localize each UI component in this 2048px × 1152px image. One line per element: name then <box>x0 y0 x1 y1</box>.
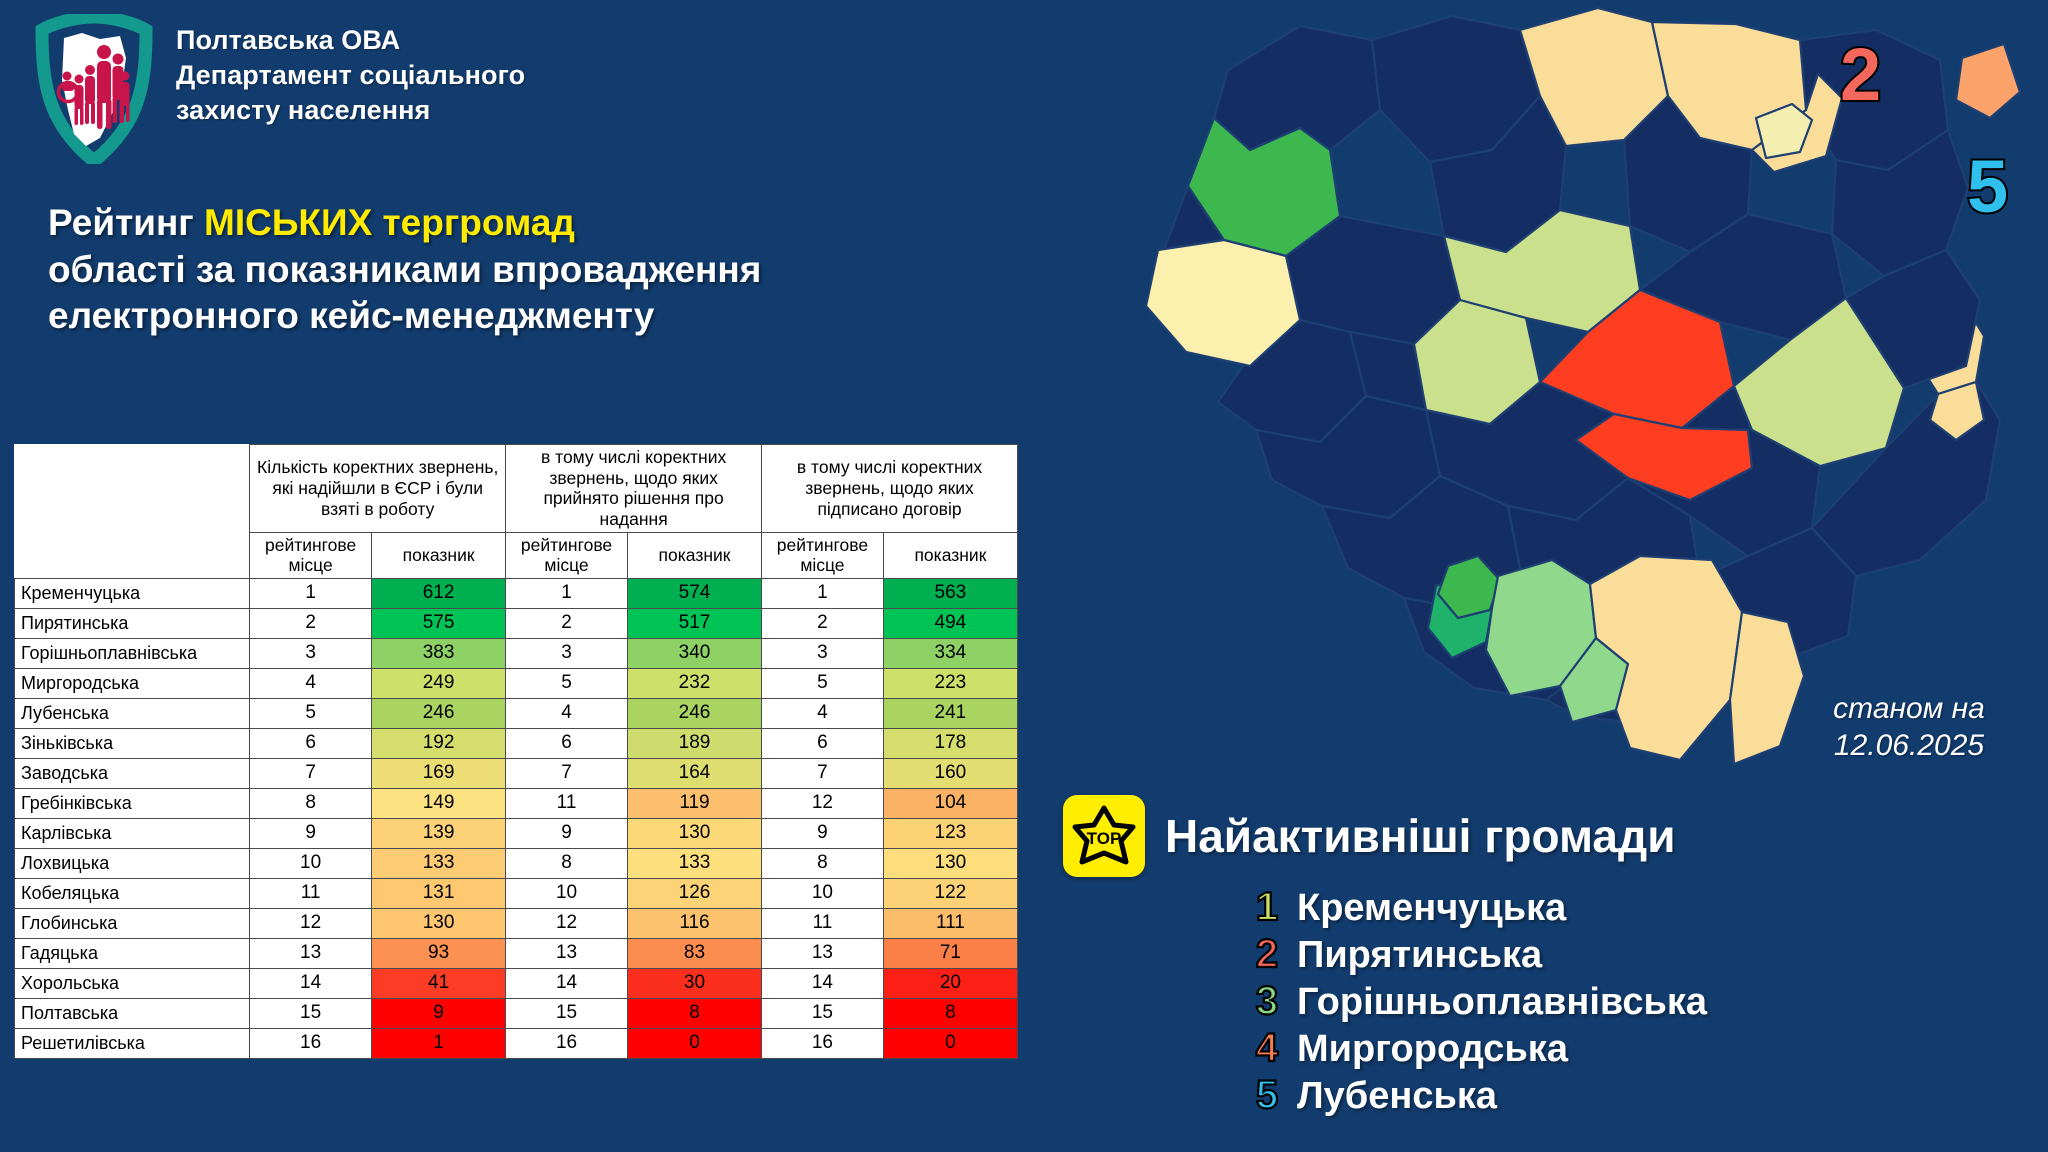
sub-header-value-2: показник <box>627 532 761 578</box>
top-community-name: Горішньоплавнівська <box>1297 981 1707 1024</box>
row-rank-3: 14 <box>762 968 884 998</box>
row-value-3: 178 <box>883 728 1017 758</box>
top-badge-text: TOP <box>1087 829 1122 848</box>
row-value-2: 8 <box>627 998 761 1028</box>
row-rank-1: 11 <box>250 878 372 908</box>
row-value-2: 130 <box>627 818 761 848</box>
row-value-2: 164 <box>627 758 761 788</box>
row-rank-2: 9 <box>506 818 628 848</box>
row-rank-2: 13 <box>506 938 628 968</box>
row-rank-1: 5 <box>250 698 372 728</box>
row-community-name: Гребінківська <box>15 788 250 818</box>
row-rank-1: 6 <box>250 728 372 758</box>
table-body: Кременчуцька161215741563Пирятинська25752… <box>15 578 1018 1058</box>
row-value-3: 111 <box>883 908 1017 938</box>
row-rank-3: 12 <box>762 788 884 818</box>
top-star-badge-icon: TOP <box>1063 795 1145 877</box>
row-value-2: 574 <box>627 578 761 608</box>
rating-table: Кількість коректних звернень, які надійш… <box>14 444 1018 1059</box>
row-value-3: 160 <box>883 758 1017 788</box>
row-rank-2: 14 <box>506 968 628 998</box>
top-communities-title: Найактивніші громади <box>1165 809 1675 863</box>
row-value-2: 119 <box>627 788 761 818</box>
row-community-name: Кременчуцька <box>15 578 250 608</box>
row-rank-2: 5 <box>506 668 628 698</box>
top-community-item: 5Лубенська <box>1253 1073 1707 1118</box>
row-rank-2: 10 <box>506 878 628 908</box>
row-rank-3: 16 <box>762 1028 884 1058</box>
row-rank-3: 3 <box>762 638 884 668</box>
top-community-item: 3Горішньоплавнівська <box>1253 979 1707 1024</box>
org-line-3: захисту населення <box>176 93 525 128</box>
row-value-3: 494 <box>883 608 1017 638</box>
row-rank-3: 7 <box>762 758 884 788</box>
row-rank-2: 2 <box>506 608 628 638</box>
row-rank-1: 15 <box>250 998 372 1028</box>
headline-highlight: МІСЬКИХ тергромад <box>204 202 575 243</box>
row-rank-3: 2 <box>762 608 884 638</box>
row-value-1: 9 <box>372 998 506 1028</box>
page-title: Рейтинг МІСЬКИХ тергромад області за пок… <box>48 200 868 340</box>
top-community-rank: 5 <box>1253 1073 1281 1118</box>
row-rank-3: 8 <box>762 848 884 878</box>
table-row: Хорольська144114301420 <box>15 968 1018 998</box>
row-value-1: 139 <box>372 818 506 848</box>
row-value-3: 563 <box>883 578 1017 608</box>
row-community-name: Лубенська <box>15 698 250 728</box>
row-rank-2: 15 <box>506 998 628 1028</box>
row-value-2: 126 <box>627 878 761 908</box>
top-community-rank: 1 <box>1253 885 1281 930</box>
row-rank-3: 13 <box>762 938 884 968</box>
as-of-date: станом на 12.06.2025 <box>1794 690 2024 764</box>
row-value-1: 169 <box>372 758 506 788</box>
row-rank-1: 8 <box>250 788 372 818</box>
top-community-item: 2Пирятинська <box>1253 932 1707 977</box>
headline-part-1: Рейтинг <box>48 202 204 243</box>
table-row: Зіньківська619261896178 <box>15 728 1018 758</box>
row-value-3: 130 <box>883 848 1017 878</box>
headline-part-2: області за показниками впровадження елек… <box>48 249 761 337</box>
row-value-3: 223 <box>883 668 1017 698</box>
row-rank-2: 16 <box>506 1028 628 1058</box>
org-title: Полтавська ОВА Департамент соціального з… <box>176 14 525 128</box>
row-value-3: 241 <box>883 698 1017 728</box>
row-rank-2: 1 <box>506 578 628 608</box>
sub-header-value-3: показник <box>883 532 1017 578</box>
table-row: Решетилівська161160160 <box>15 1028 1018 1058</box>
top-communities-list: 1Кременчуцька2Пирятинська3Горішньоплавні… <box>1253 885 1707 1120</box>
sub-header-rank-1: рейтингове місце <box>250 532 372 578</box>
table-head: Кількість коректних звернень, які надійш… <box>15 445 1018 579</box>
row-rank-1: 9 <box>250 818 372 848</box>
row-rank-2: 11 <box>506 788 628 818</box>
row-value-2: 30 <box>627 968 761 998</box>
map-marker-2: 2 <box>1840 38 1881 112</box>
row-rank-2: 3 <box>506 638 628 668</box>
table-row: Миргородська424952325223 <box>15 668 1018 698</box>
row-rank-1: 2 <box>250 608 372 638</box>
group-header-3: в тому числі коректних звернень, щодо як… <box>762 445 1018 533</box>
as-of-label: станом на <box>1794 690 2024 727</box>
row-community-name: Лохвицька <box>15 848 250 878</box>
row-value-3: 123 <box>883 818 1017 848</box>
top-community-name: Пирятинська <box>1297 934 1542 977</box>
star-icon: TOP <box>1071 804 1137 868</box>
row-value-3: 8 <box>883 998 1017 1028</box>
row-value-1: 41 <box>372 968 506 998</box>
table-row: Пирятинська257525172494 <box>15 608 1018 638</box>
group-header-1: Кількість коректних звернень, які надійш… <box>250 445 506 533</box>
row-community-name: Горішньоплавнівська <box>15 638 250 668</box>
row-value-1: 249 <box>372 668 506 698</box>
sub-header-value-1: показник <box>372 532 506 578</box>
table-row: Полтавська159158158 <box>15 998 1018 1028</box>
table-row: Кременчуцька161215741563 <box>15 578 1018 608</box>
row-value-2: 232 <box>627 668 761 698</box>
top-community-item: 4Миргородська <box>1253 1026 1707 1071</box>
table-row: Гадяцька139313831371 <box>15 938 1018 968</box>
table-row: Гребінківська81491111912104 <box>15 788 1018 818</box>
row-value-3: 20 <box>883 968 1017 998</box>
row-rank-1: 13 <box>250 938 372 968</box>
row-value-2: 116 <box>627 908 761 938</box>
table-row: Карлівська913991309123 <box>15 818 1018 848</box>
row-rank-2: 12 <box>506 908 628 938</box>
row-value-1: 575 <box>372 608 506 638</box>
row-rank-3: 5 <box>762 668 884 698</box>
row-rank-1: 10 <box>250 848 372 878</box>
top-community-rank: 2 <box>1253 932 1281 977</box>
row-rank-2: 4 <box>506 698 628 728</box>
row-community-name: Зіньківська <box>15 728 250 758</box>
row-value-2: 83 <box>627 938 761 968</box>
top-community-rank: 4 <box>1253 1026 1281 1071</box>
org-header: Полтавська ОВА Департамент соціального з… <box>34 14 525 164</box>
row-rank-1: 3 <box>250 638 372 668</box>
table-row: Горішньоплавнівська338333403334 <box>15 638 1018 668</box>
row-community-name: Пирятинська <box>15 608 250 638</box>
table-row: Кобеляцька111311012610122 <box>15 878 1018 908</box>
row-value-1: 612 <box>372 578 506 608</box>
row-rank-3: 15 <box>762 998 884 1028</box>
row-value-2: 517 <box>627 608 761 638</box>
poltava-social-protection-shield-logo <box>34 14 154 164</box>
row-rank-3: 9 <box>762 818 884 848</box>
sub-header-rank-3: рейтингове місце <box>762 532 884 578</box>
row-rank-1: 4 <box>250 668 372 698</box>
row-community-name: Кобеляцька <box>15 878 250 908</box>
row-rank-1: 12 <box>250 908 372 938</box>
row-value-3: 334 <box>883 638 1017 668</box>
table-row: Лубенська524642464241 <box>15 698 1018 728</box>
row-value-1: 383 <box>372 638 506 668</box>
row-community-name: Глобинська <box>15 908 250 938</box>
top-community-name: Миргородська <box>1297 1028 1568 1071</box>
row-rank-2: 7 <box>506 758 628 788</box>
row-rank-3: 1 <box>762 578 884 608</box>
row-rank-3: 10 <box>762 878 884 908</box>
map-marker-5: 5 <box>1967 150 2008 224</box>
table-row: Заводська716971647160 <box>15 758 1018 788</box>
row-rank-1: 16 <box>250 1028 372 1058</box>
org-line-1: Полтавська ОВА <box>176 23 525 58</box>
row-value-3: 0 <box>883 1028 1017 1058</box>
row-community-name: Гадяцька <box>15 938 250 968</box>
row-value-1: 192 <box>372 728 506 758</box>
row-rank-2: 8 <box>506 848 628 878</box>
table-row: Лохвицька1013381338130 <box>15 848 1018 878</box>
row-community-name: Хорольська <box>15 968 250 998</box>
row-value-2: 246 <box>627 698 761 728</box>
row-rank-1: 7 <box>250 758 372 788</box>
row-rank-3: 4 <box>762 698 884 728</box>
row-community-name: Миргородська <box>15 668 250 698</box>
row-rank-1: 14 <box>250 968 372 998</box>
table-group-header-row: Кількість коректних звернень, які надійш… <box>15 445 1018 533</box>
row-community-name: Полтавська <box>15 998 250 1028</box>
row-value-1: 131 <box>372 878 506 908</box>
sub-header-rank-2: рейтингове місце <box>506 532 628 578</box>
as-of-value: 12.06.2025 <box>1794 727 2024 764</box>
table-corner-cell <box>15 445 250 579</box>
row-value-2: 340 <box>627 638 761 668</box>
row-community-name: Заводська <box>15 758 250 788</box>
row-value-2: 0 <box>627 1028 761 1058</box>
org-line-2: Департамент соціального <box>176 58 525 93</box>
table-row: Глобинська121301211611111 <box>15 908 1018 938</box>
top-community-name: Лубенська <box>1297 1075 1497 1118</box>
row-value-1: 1 <box>372 1028 506 1058</box>
top-community-item: 1Кременчуцька <box>1253 885 1707 930</box>
row-value-3: 104 <box>883 788 1017 818</box>
top-community-name: Кременчуцька <box>1297 887 1566 930</box>
top-communities-header: TOP Найактивніші громади <box>1063 795 1675 877</box>
top-community-rank: 3 <box>1253 979 1281 1024</box>
row-rank-1: 1 <box>250 578 372 608</box>
row-community-name: Решетилівська <box>15 1028 250 1058</box>
row-community-name: Карлівська <box>15 818 250 848</box>
row-value-2: 189 <box>627 728 761 758</box>
row-value-1: 130 <box>372 908 506 938</box>
row-value-3: 71 <box>883 938 1017 968</box>
row-value-3: 122 <box>883 878 1017 908</box>
row-value-1: 133 <box>372 848 506 878</box>
row-value-2: 133 <box>627 848 761 878</box>
row-value-1: 246 <box>372 698 506 728</box>
row-rank-2: 6 <box>506 728 628 758</box>
row-value-1: 149 <box>372 788 506 818</box>
row-value-1: 93 <box>372 938 506 968</box>
row-rank-3: 6 <box>762 728 884 758</box>
group-header-2: в тому числі коректних звернень, щодо як… <box>506 445 762 533</box>
row-rank-3: 11 <box>762 908 884 938</box>
